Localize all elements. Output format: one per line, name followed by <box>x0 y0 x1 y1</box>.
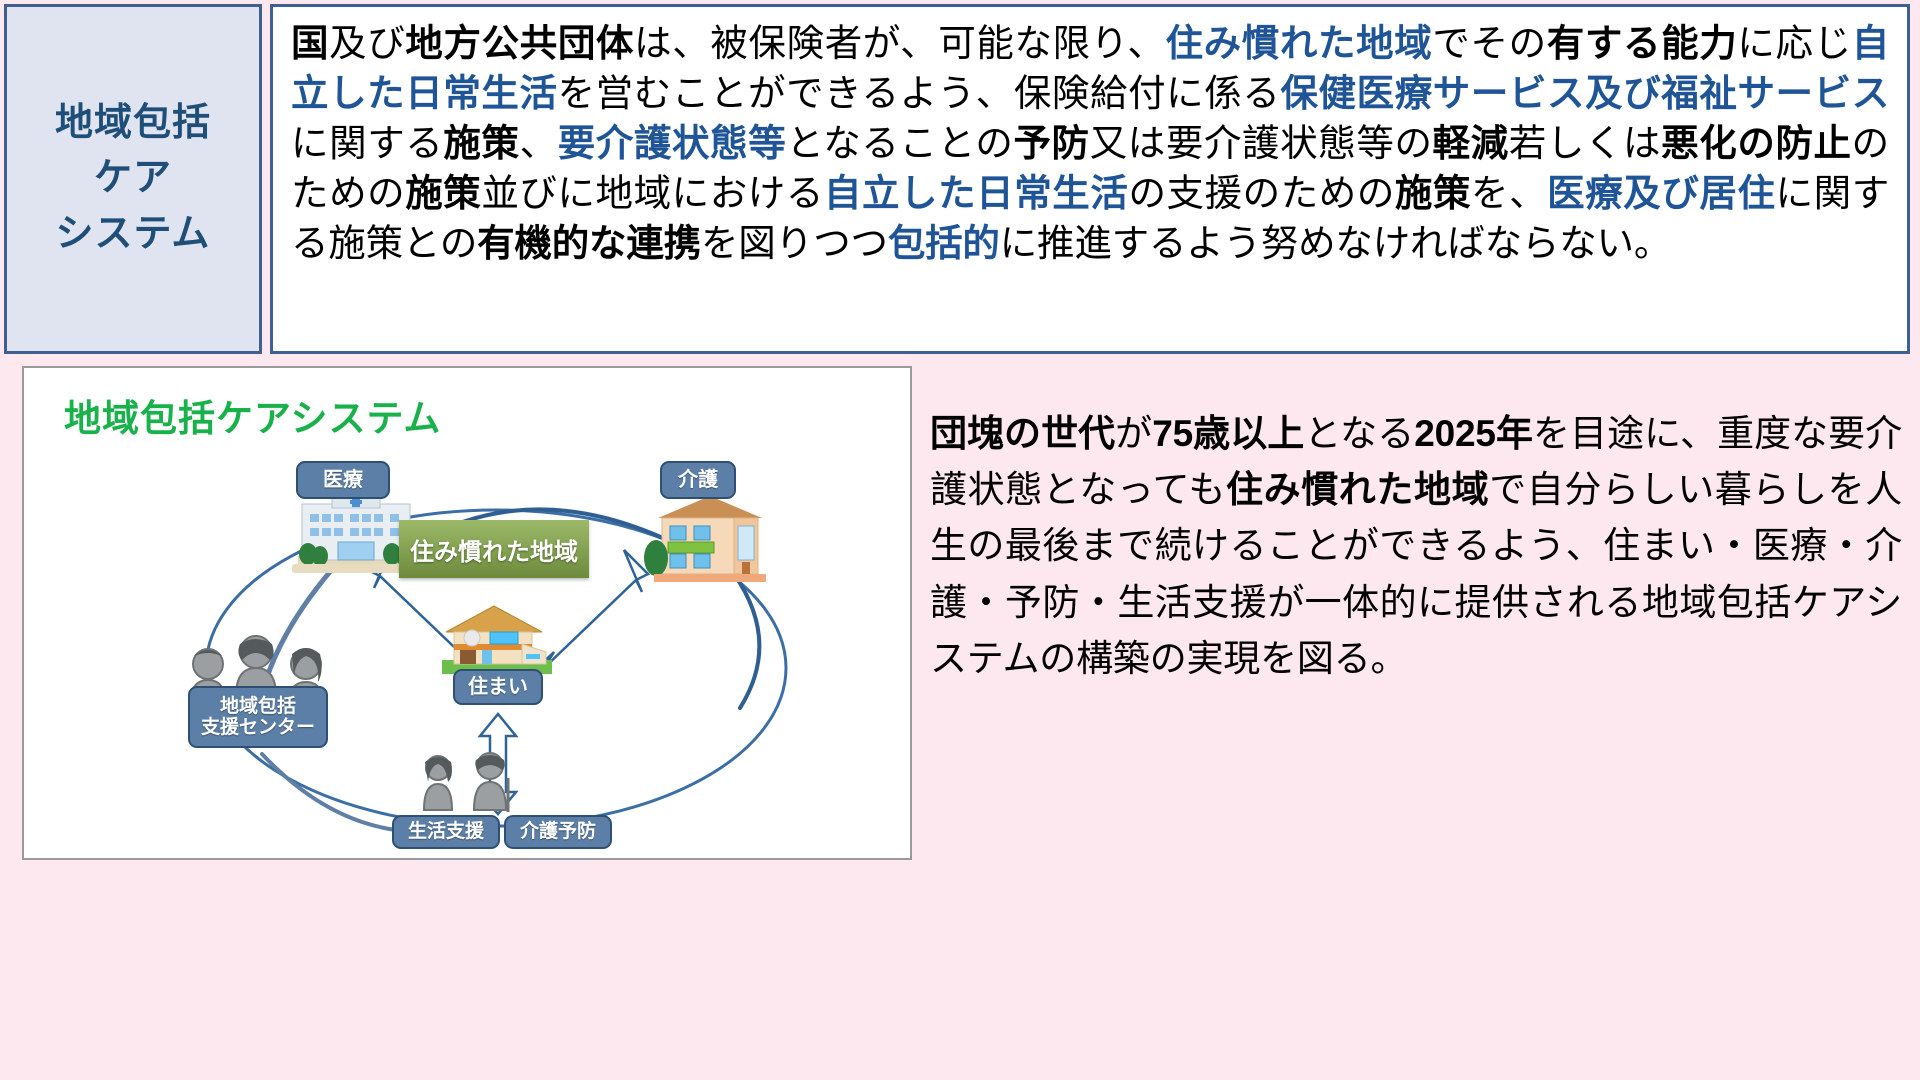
slide-page: 地域包括 ケア システム 国及び地方公共団体は、被保険者が、可能な限り、住み慣れ… <box>0 0 1920 1080</box>
node-label-medical[interactable]: 医療 <box>296 461 390 499</box>
text-run-5: でその <box>1432 22 1546 64</box>
text-run-20: 悪化の防止 <box>1661 122 1852 164</box>
home-illustration <box>442 606 552 674</box>
text-run-6: 有する能力 <box>1547 22 1738 64</box>
care-system-diagram-card: 地域包括ケアシステム <box>22 366 912 860</box>
care-facility-illustration <box>644 496 766 582</box>
arc-care-bottom <box>728 566 759 708</box>
text-run-3: は、被保険者が、可能な限り、 <box>634 22 1165 64</box>
text-run-3: となる <box>1304 413 1414 454</box>
section-label-line-2: ケア <box>55 151 211 206</box>
text-run-33: に推進するよう努めなければならない。 <box>1000 222 1671 264</box>
text-run-2: 地方公共団体 <box>405 22 634 64</box>
text-run-18: 軽減 <box>1433 122 1509 164</box>
text-run-26: 施策 <box>1395 172 1471 214</box>
text-run-10: 保健医療サービス及び福祉サービス <box>1280 72 1889 114</box>
support-center-line-1: 地域包括 <box>220 696 296 717</box>
text-run-15: となることの <box>786 122 1013 164</box>
section-label-text: 地域包括 ケア システム <box>55 96 211 261</box>
text-run-25: の支援のための <box>1128 172 1394 214</box>
node-label-care-prevention[interactable]: 介護予防 <box>504 815 612 849</box>
text-run-17: 又は要介護状態等の <box>1090 122 1433 164</box>
life-support-people-illustration <box>424 753 508 812</box>
text-run-12: 施策 <box>443 122 519 164</box>
text-run-30: 有機的な連携 <box>477 222 701 264</box>
text-run-27: を、 <box>1471 172 1547 214</box>
node-label-support-center[interactable]: 地域包括 支援センター <box>188 686 328 748</box>
text-run-1: が <box>1115 413 1152 454</box>
community-band-label: 住み慣れた地域 <box>399 520 589 578</box>
text-run-32: 包括的 <box>888 222 1000 264</box>
text-run-31: を図りつつ <box>701 222 888 264</box>
node-label-life-support[interactable]: 生活支援 <box>392 815 500 849</box>
text-run-7: に応じ <box>1737 22 1851 64</box>
diagram-and-summary-row: 地域包括ケアシステム <box>22 366 1902 1066</box>
text-run-13: 、 <box>520 122 558 164</box>
text-run-4: 2025年 <box>1414 413 1533 454</box>
text-run-9: を営むことができるよう、保険給付に係る <box>558 72 1281 114</box>
text-run-16: 予防 <box>1013 122 1089 164</box>
section-label-cell: 地域包括 ケア システム <box>4 4 262 354</box>
text-run-2: 75歳以上 <box>1152 413 1304 454</box>
text-run-1: 及び <box>329 22 405 64</box>
diagram-svg <box>24 368 910 858</box>
text-run-11: に関する <box>291 122 443 164</box>
support-center-line-2: 支援センター <box>201 717 315 738</box>
statute-text-box: 国及び地方公共団体は、被保険者が、可能な限り、住み慣れた地域でその有する能力に応… <box>270 4 1910 354</box>
section-label-line-3: システム <box>55 207 211 262</box>
text-run-6: 住み慣れた地域 <box>1226 469 1489 510</box>
text-run-28: 医療及び居住 <box>1547 172 1775 214</box>
summary-paragraph: 団塊の世代が75歳以上となる2025年を目途に、重度な要介護状態となっても住み慣… <box>930 406 1902 687</box>
text-run-14: 要介護状態等 <box>558 122 787 164</box>
node-label-care[interactable]: 介護 <box>660 461 736 499</box>
section-label-line-1: 地域包括 <box>55 96 211 151</box>
text-run-4: 住み慣れた地域 <box>1166 22 1433 64</box>
diagram-stage: 医療 介護 地域包括 支援センター 住まい 生活支援 介護予防 住み慣れた地域 <box>24 368 910 858</box>
text-run-0: 団塊の世代 <box>930 413 1115 454</box>
text-run-23: 並びに地域における <box>481 172 824 214</box>
statute-paragraph: 国及び地方公共団体は、被保険者が、可能な限り、住み慣れた地域でその有する能力に応… <box>291 19 1889 268</box>
text-run-0: 国 <box>291 22 329 64</box>
text-run-22: 施策 <box>405 172 481 214</box>
summary-panel: 団塊の世代が75歳以上となる2025年を目途に、重度な要介護状態となっても住み慣… <box>930 406 1902 846</box>
text-run-24: 自立した日常生活 <box>824 172 1129 214</box>
node-label-housing[interactable]: 住まい <box>453 669 543 705</box>
statute-row: 地域包括 ケア システム 国及び地方公共団体は、被保険者が、可能な限り、住み慣れ… <box>4 4 1910 354</box>
arc-center-bottom <box>262 754 396 830</box>
text-run-19: 若しくは <box>1509 122 1661 164</box>
